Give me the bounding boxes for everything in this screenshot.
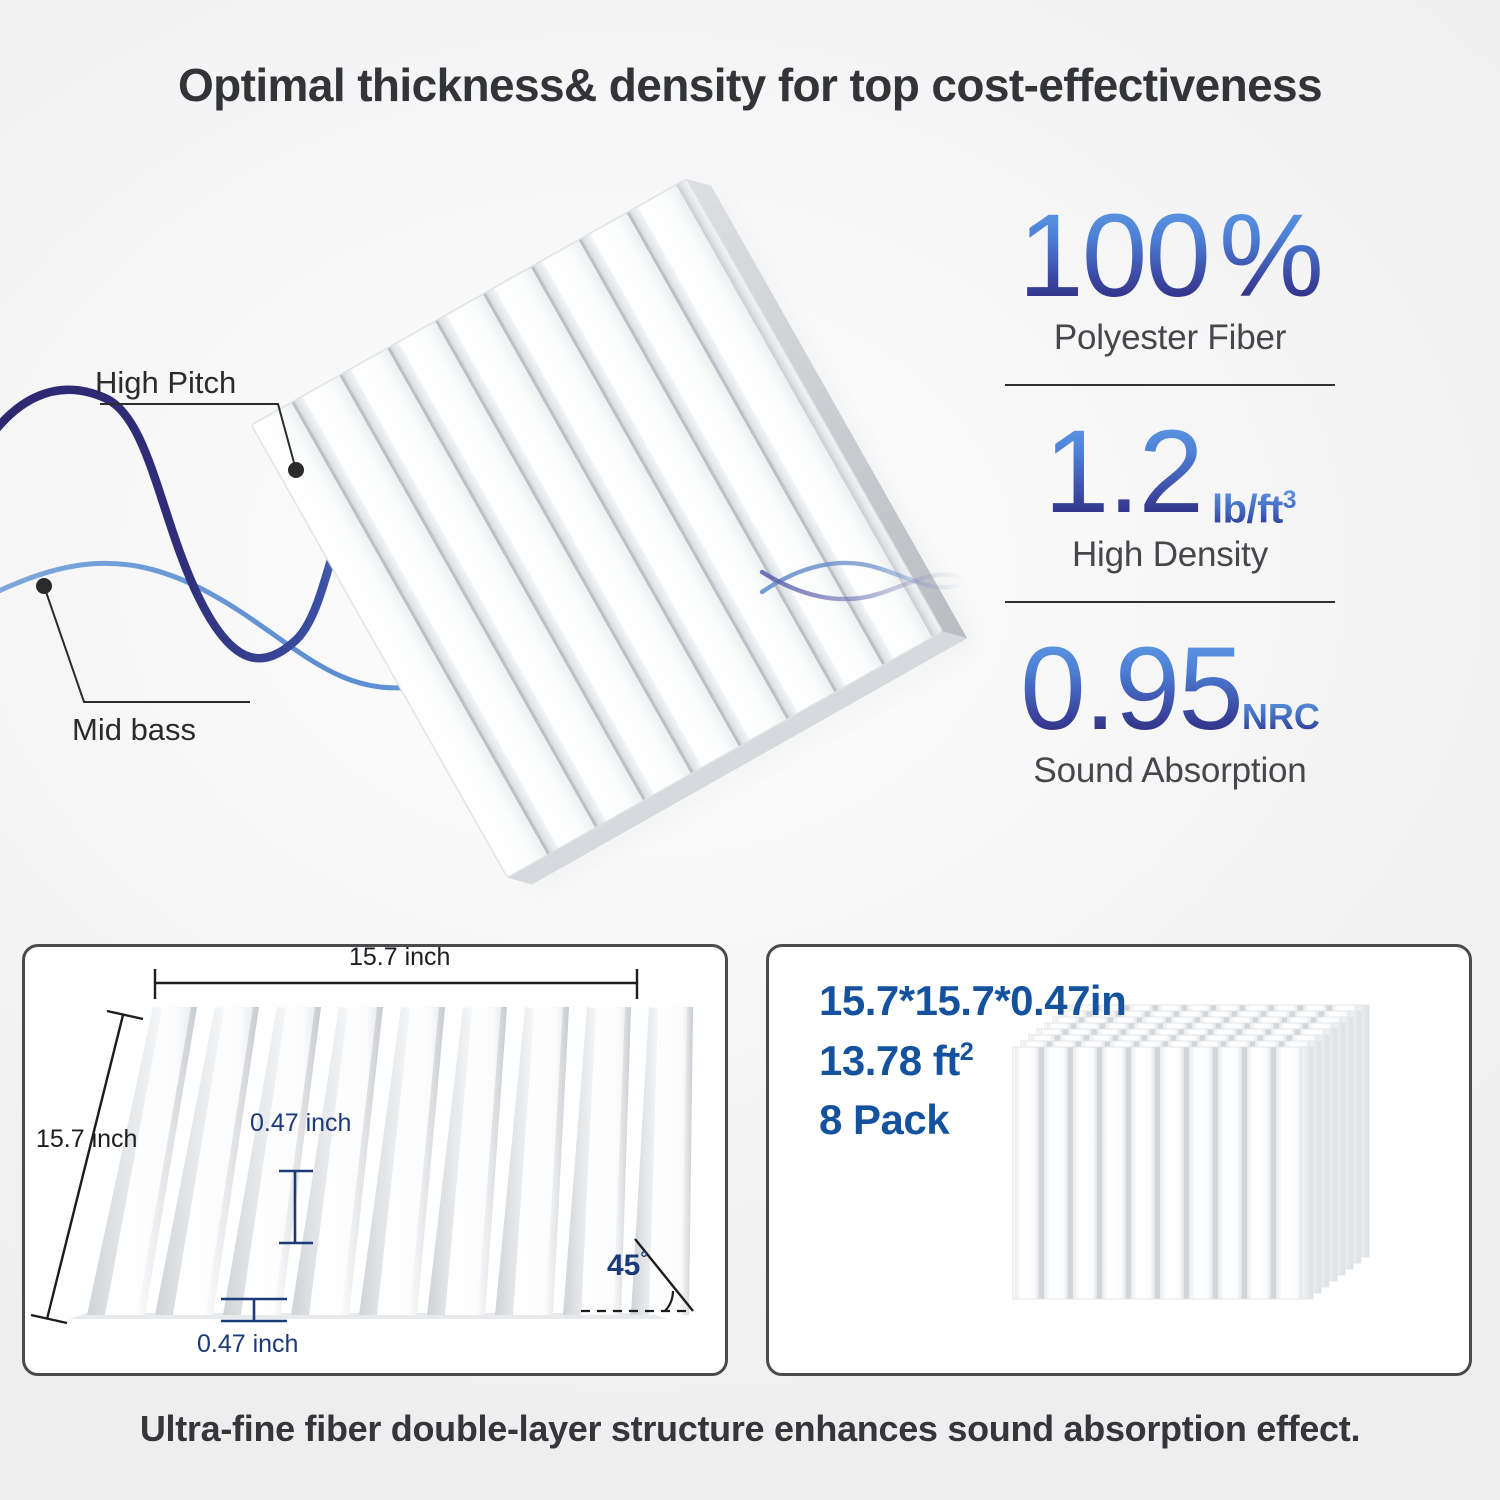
stat-value-polyester: 100 — [1018, 196, 1209, 316]
pack-dimensions: 15.7*15.7*0.47in — [819, 971, 1126, 1031]
stat-caption-polyester: Polyester Fiber — [960, 318, 1380, 358]
pack-count: 8 Pack — [819, 1090, 1126, 1150]
pack-panel: 15.7*15.7*0.47in 13.78 ft2 8 Pack — [766, 944, 1472, 1376]
pack-area: 13.78 ft2 — [819, 1031, 1126, 1091]
soundwave-attenuated — [762, 563, 966, 599]
footer-caption: Ultra-fine fiber double-layer structure … — [0, 1408, 1500, 1450]
stat-divider-2 — [1005, 601, 1335, 603]
label-angle-45: 45° — [607, 1247, 648, 1283]
stat-polyester-fiber: 100 % Polyester Fiber — [960, 196, 1380, 358]
stats-column: 100 % Polyester Fiber 1.2 lb/ft3 High De… — [960, 196, 1380, 791]
acoustic-panel-hero — [251, 170, 967, 893]
soundwave-incoming — [0, 390, 840, 688]
label-width-157: 15.7 inch — [349, 944, 450, 972]
stat-unit-nrc: NRC — [1242, 696, 1320, 738]
wave-label-mid-bass: Mid bass — [72, 712, 196, 748]
dimensions-panel: 15.7 inch 15.7 inch 0.47 inch 0.47 inch … — [22, 944, 728, 1376]
stat-density: 1.2 lb/ft3 High Density — [960, 412, 1380, 574]
stat-divider-1 — [1005, 384, 1335, 386]
stat-unit-percent: % — [1219, 196, 1322, 316]
dimension-diagram — [25, 947, 725, 1373]
infographic-canvas: Optimal thickness& density for top cost-… — [0, 0, 1500, 1500]
wave-callouts — [36, 404, 304, 702]
dim-width-arrow — [155, 969, 637, 999]
label-groove-depth: 0.47 inch — [250, 1109, 351, 1138]
pack-specs: 15.7*15.7*0.47in 13.78 ft2 8 Pack — [819, 971, 1126, 1150]
stat-caption-nrc: Sound Absorption — [960, 751, 1380, 791]
stat-nrc: 0.95 NRC Sound Absorption — [960, 629, 1380, 791]
wave-label-high-pitch: High Pitch — [95, 365, 236, 401]
slat-group — [87, 1007, 693, 1315]
stat-caption-density: High Density — [960, 535, 1380, 575]
stat-value-nrc: 0.95 — [1020, 629, 1242, 749]
stat-unit-density: lb/ft3 — [1212, 487, 1296, 532]
label-height-157: 15.7 inch — [36, 1125, 137, 1154]
page-title: Optimal thickness& density for top cost-… — [0, 58, 1500, 112]
label-groove-width: 0.47 inch — [197, 1330, 298, 1359]
stat-value-density: 1.2 — [1044, 412, 1202, 532]
